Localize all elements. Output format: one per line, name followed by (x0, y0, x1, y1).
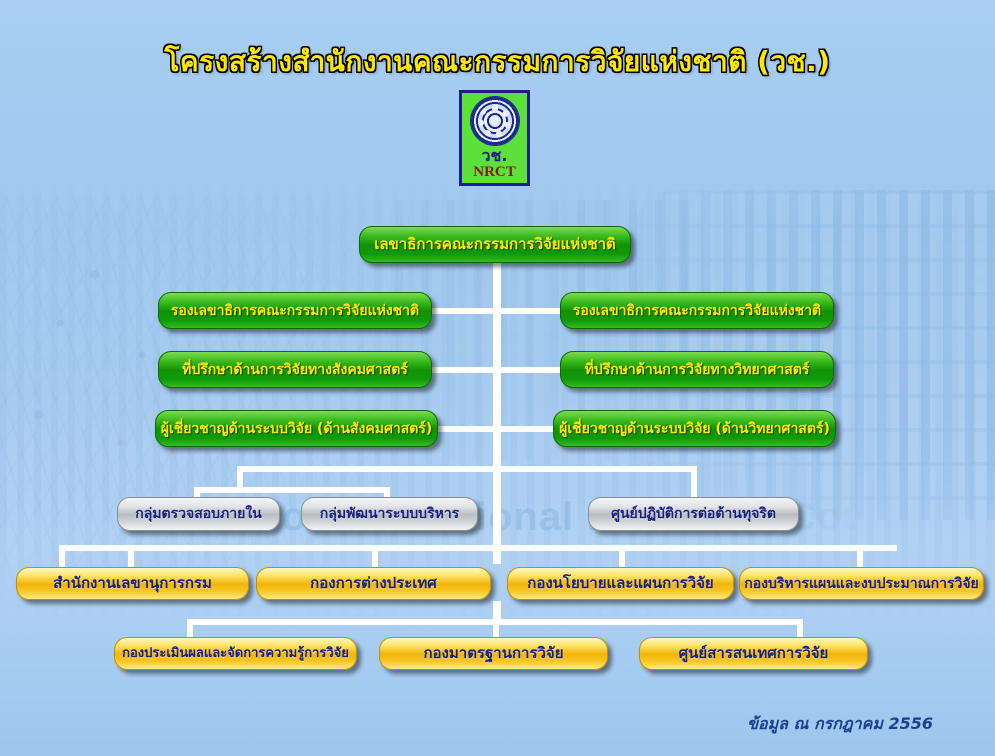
connector-level6-drop-3 (619, 545, 625, 567)
node-research-plan-and-budget-admin-division[interactable]: กองบริหารแผนและงบประมาณการวิจัย (739, 567, 984, 600)
nrct-emblem-icon (471, 97, 519, 145)
node-label: ที่ปรึกษาด้านการวิจัยทางวิทยาศาสตร์ (577, 363, 818, 377)
node-deputy-secretary-general-right[interactable]: รองเลขาธิการคณะกรรมการวิจัยแห่งชาติ (560, 292, 834, 329)
connector-level5-bus (237, 466, 697, 472)
node-label: รองเลขาธิการคณะกรรมการวิจัยแห่งชาติ (565, 304, 829, 318)
logo-thai-abbr: วช. (482, 147, 508, 165)
page-title: โครงสร้างสำนักงานคณะกรรมการวิจัยแห่งชาติ… (0, 40, 995, 84)
node-secretary-general[interactable]: เลขาธิการคณะกรรมการวิจัยแห่งชาติ (359, 226, 631, 263)
node-office-of-secretary[interactable]: สำนักงานเลขานุการกรม (16, 567, 249, 600)
node-research-policy-and-planning-division[interactable]: กองนโยบายและแผนการวิจัย (507, 567, 734, 600)
node-research-information-center[interactable]: ศูนย์สารสนเทศการวิจัย (639, 637, 868, 670)
node-label: รองเลขาธิการคณะกรรมการวิจัยแห่งชาติ (163, 304, 427, 318)
node-label: ผู้เชี่ยวชาญด้านระบบวิจัย (ด้านสังคมศาสต… (155, 422, 438, 436)
connector-level5-left-riser (237, 466, 243, 491)
node-internal-audit-group[interactable]: กลุ่มตรวจสอบภายใน (117, 497, 280, 531)
connector-level7-drop-3 (797, 619, 803, 637)
node-label: กลุ่มพัฒนาระบบบริหาร (312, 507, 467, 521)
node-anti-corruption-operation-center[interactable]: ศูนย์ปฏิบัติการต่อต้านทุจริต (588, 497, 799, 531)
node-label: เลขาธิการคณะกรรมการวิจัยแห่งชาติ (366, 237, 624, 252)
node-deputy-secretary-general-left[interactable]: รองเลขาธิการคณะกรรมการวิจัยแห่งชาติ (158, 292, 432, 329)
connector-level5-bus-left (194, 487, 390, 493)
connector-level5-drop-anti (691, 466, 697, 500)
data-as-of-note: ข้อมูล ณ กรกฎาคม 2556 (747, 712, 933, 737)
connector-level6-left-edge (59, 545, 65, 567)
connector-level3-left-arm (424, 367, 500, 373)
connector-level6-drop-2 (372, 545, 378, 567)
node-label: กองมาตรฐานการวิจัย (415, 646, 571, 661)
nrct-logo: วช. NRCT (459, 90, 530, 186)
node-foreign-affairs-division[interactable]: กองการต่างประเทศ (256, 567, 491, 600)
node-label: กองการต่างประเทศ (302, 576, 445, 591)
node-expert-research-system-science[interactable]: ผู้เชี่ยวชาญด้านระบบวิจัย (ด้านวิทยาศาสต… (553, 410, 836, 447)
node-admin-system-development-group[interactable]: กลุ่มพัฒนาระบบบริหาร (301, 497, 478, 531)
connector-level7-drop-1 (187, 619, 193, 637)
connector-level2-left-arm (424, 308, 500, 314)
node-research-standards-division[interactable]: กองมาตรฐานการวิจัย (379, 637, 608, 670)
node-label: กองบริหารแผนและงบประมาณการวิจัย (739, 577, 984, 591)
connector-spine-main (493, 262, 501, 466)
node-label: ผู้เชี่ยวชาญด้านระบบวิจัย (ด้านวิทยาศาสต… (553, 422, 836, 436)
connector-level6-bus (59, 545, 897, 551)
node-advisor-social-science[interactable]: ที่ปรึกษาด้านการวิจัยทางสังคมศาสตร์ (158, 351, 432, 388)
connector-level7-drop-2 (493, 619, 499, 637)
node-label: กองประเมินผลและจัดการความรู้การวิจัย (114, 647, 357, 660)
node-advisor-science[interactable]: ที่ปรึกษาด้านการวิจัยทางวิทยาศาสตร์ (560, 351, 834, 388)
logo-english-abbr: NRCT (473, 165, 516, 180)
node-label: ที่ปรึกษาด้านการวิจัยทางสังคมศาสตร์ (174, 363, 416, 377)
org-chart-canvas: Office of the National Research Council … (0, 0, 995, 756)
node-label: กองนโยบายและแผนการวิจัย (519, 576, 721, 591)
node-label: สำนักงานเลขานุการกรม (45, 576, 220, 591)
node-label: ศูนย์สารสนเทศการวิจัย (671, 646, 837, 661)
node-evaluation-and-knowledge-management-division[interactable]: กองประเมินผลและจัดการความรู้การวิจัย (114, 637, 357, 670)
node-label: ศูนย์ปฏิบัติการต่อต้านทุจริต (603, 507, 784, 521)
node-expert-research-system-social[interactable]: ผู้เชี่ยวชาญด้านระบบวิจัย (ด้านสังคมศาสต… (155, 410, 438, 447)
connector-level3-right-arm (494, 367, 566, 373)
connector-level6-drop-1 (128, 545, 134, 567)
connector-level6-drop-4 (857, 545, 863, 567)
connector-level2-right-arm (494, 308, 566, 314)
node-label: กลุ่มตรวจสอบภายใน (127, 507, 270, 521)
